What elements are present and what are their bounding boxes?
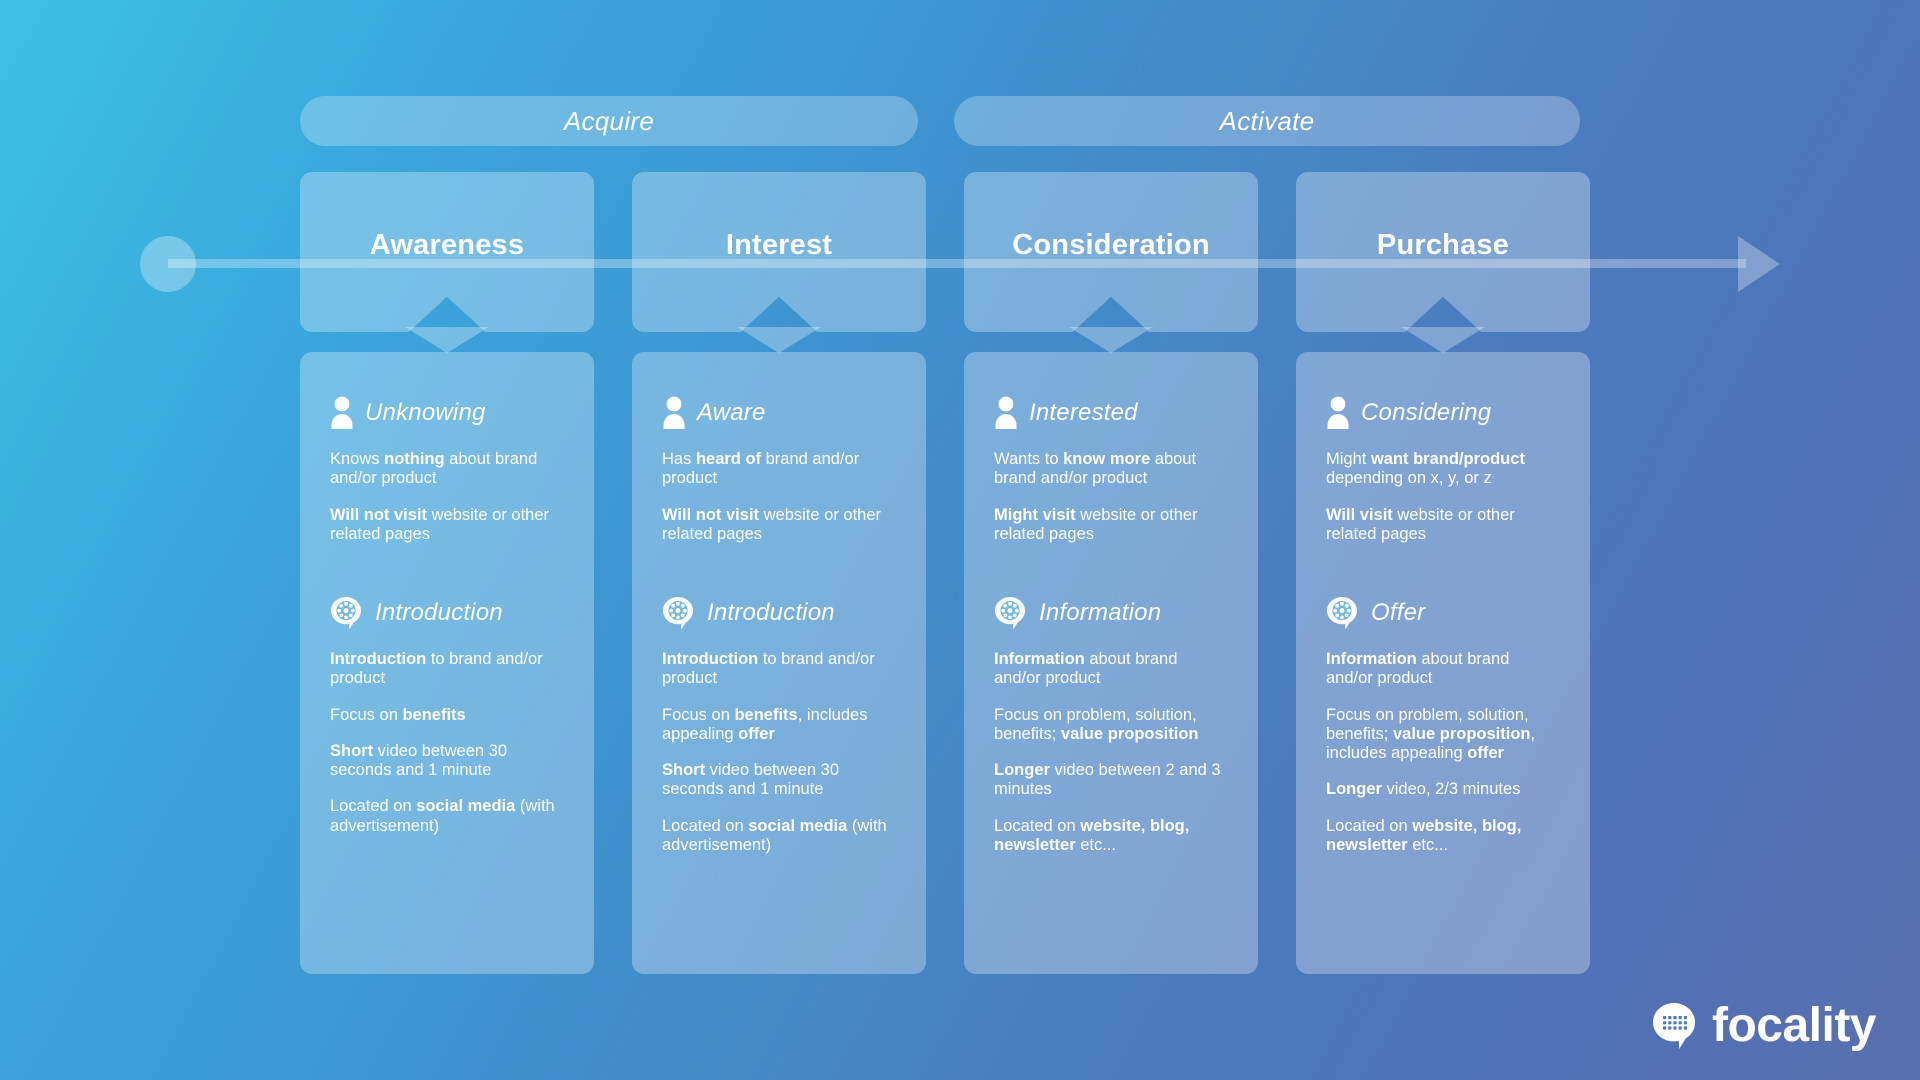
video-bubble-icon	[1326, 596, 1360, 630]
stage-title: Purchase	[1377, 229, 1509, 262]
bullet-item: Will not visit website or other related …	[330, 506, 564, 545]
bullet-item: Focus on benefits	[330, 706, 564, 725]
bullet-text: Wants to	[994, 450, 1063, 468]
bullet-text: etc...	[1076, 836, 1116, 854]
funnel-column-awareness: AwarenessUnknowingKnows nothing about br…	[300, 172, 594, 992]
stage-title: Interest	[726, 229, 832, 262]
person-icon	[994, 396, 1018, 430]
detail-card-interest: AwareHas heard of brand and/or productWi…	[632, 352, 926, 974]
card-notch-icon	[1069, 327, 1153, 353]
persona-header: Unknowing	[330, 396, 564, 430]
video-bubble-icon	[662, 596, 696, 630]
bullet-item: Located on social media (with advertisem…	[330, 797, 564, 836]
bullet-text: Located on	[330, 797, 416, 815]
phase-banner-activate: Activate	[954, 96, 1580, 146]
bullet-emphasis: know more	[1063, 450, 1150, 468]
bullet-emphasis: Will visit	[1326, 506, 1393, 524]
stage-title: Consideration	[1012, 229, 1210, 262]
media-header: Offer	[1326, 596, 1560, 630]
bullet-item: Located on social media (with advertisem…	[662, 817, 896, 856]
bullet-emphasis: Will not visit	[330, 506, 427, 524]
phase-banner-acquire: Acquire	[300, 96, 918, 146]
bullet-emphasis: Introduction	[330, 650, 426, 668]
video-bubble-icon	[994, 596, 1028, 630]
bullet-text: depending on x, y, or z	[1326, 469, 1492, 487]
bullet-text: Located on	[994, 817, 1080, 835]
bullet-item: Longer video between 2 and 3 minutes	[994, 761, 1228, 800]
bullet-item: Short video between 30 seconds and 1 min…	[662, 761, 896, 800]
bullet-item: Located on website, blog, newsletter etc…	[994, 817, 1228, 856]
bullet-emphasis: benefits	[402, 706, 465, 724]
media-title: Introduction	[707, 599, 835, 627]
bullet-item: Information about brand and/or product	[994, 650, 1228, 689]
stage-card-purchase[interactable]: Purchase	[1296, 172, 1590, 332]
person-icon	[1326, 396, 1350, 430]
focality-bubble-icon	[1650, 1000, 1702, 1052]
persona-section: ConsideringMight want brand/product depe…	[1326, 396, 1560, 592]
bullet-item: Will visit website or other related page…	[1326, 506, 1560, 545]
bullet-emphasis: Short	[330, 742, 373, 760]
bullet-item: Focus on problem, solution, benefits; va…	[1326, 706, 1560, 764]
bullet-emphasis: nothing	[384, 450, 444, 468]
bullet-emphasis: Longer	[994, 761, 1050, 779]
bullet-item: Introduction to brand and/or product	[330, 650, 564, 689]
detail-card-consideration: InterestedWants to know more about brand…	[964, 352, 1258, 974]
logo-wordmark: focality	[1712, 1002, 1876, 1050]
persona-title: Interested	[1029, 399, 1138, 427]
bullet-emphasis: offer	[1467, 744, 1504, 762]
card-notch-icon	[737, 327, 821, 353]
bullet-emphasis: offer	[738, 725, 775, 743]
media-section: IntroductionIntroduction to brand and/or…	[662, 596, 896, 855]
brand-logo: focality	[1650, 1000, 1876, 1052]
funnel-columns: AwarenessUnknowingKnows nothing about br…	[300, 172, 1590, 992]
stage-title: Awareness	[370, 229, 524, 262]
bullet-text: video, 2/3 minutes	[1382, 780, 1521, 798]
bullet-emphasis: social media	[748, 817, 847, 835]
bullet-emphasis: Short	[662, 761, 705, 779]
stage-card-awareness[interactable]: Awareness	[300, 172, 594, 332]
bullet-item: Knows nothing about brand and/or product	[330, 450, 564, 489]
persona-title: Unknowing	[365, 399, 486, 427]
person-icon	[330, 396, 354, 430]
persona-section: AwareHas heard of brand and/or productWi…	[662, 396, 896, 592]
bullet-emphasis: Longer	[1326, 780, 1382, 798]
bullet-emphasis: Introduction	[662, 650, 758, 668]
bullet-item: Short video between 30 seconds and 1 min…	[330, 742, 564, 781]
persona-section: UnknowingKnows nothing about brand and/o…	[330, 396, 564, 592]
media-section: IntroductionIntroduction to brand and/or…	[330, 596, 564, 836]
bullet-item: Longer video, 2/3 minutes	[1326, 780, 1560, 799]
bullet-item: Located on website, blog, newsletter etc…	[1326, 817, 1560, 856]
media-title: Offer	[1371, 599, 1425, 627]
detail-card-awareness: UnknowingKnows nothing about brand and/o…	[300, 352, 594, 974]
persona-title: Aware	[697, 399, 766, 427]
bullet-item: Might want brand/product depending on x,…	[1326, 450, 1560, 489]
media-title: Information	[1039, 599, 1161, 627]
bullet-item: Introduction to brand and/or product	[662, 650, 896, 689]
persona-section: InterestedWants to know more about brand…	[994, 396, 1228, 592]
media-header: Information	[994, 596, 1228, 630]
bullet-text: Focus on	[662, 706, 734, 724]
bullet-text: Has	[662, 450, 696, 468]
bullet-item: Will not visit website or other related …	[662, 506, 896, 545]
bullet-emphasis: value proposition	[1393, 725, 1531, 743]
bullet-item: Information about brand and/or product	[1326, 650, 1560, 689]
funnel-column-interest: InterestAwareHas heard of brand and/or p…	[632, 172, 926, 992]
bullet-text: Knows	[330, 450, 384, 468]
bullet-emphasis: Information	[994, 650, 1085, 668]
phase-banner-row: AcquireActivate	[300, 96, 1580, 146]
bullet-item: Has heard of brand and/or product	[662, 450, 896, 489]
bullet-item: Might visit website or other related pag…	[994, 506, 1228, 545]
bullet-text: etc...	[1408, 836, 1448, 854]
video-bubble-icon	[330, 596, 364, 630]
persona-header: Aware	[662, 396, 896, 430]
bullet-emphasis: benefits	[734, 706, 797, 724]
funnel-column-purchase: PurchaseConsideringMight want brand/prod…	[1296, 172, 1590, 992]
bullet-emphasis: want brand/product	[1371, 450, 1525, 468]
stage-card-consideration[interactable]: Consideration	[964, 172, 1258, 332]
bullet-emphasis: Will not visit	[662, 506, 759, 524]
phase-label: Acquire	[564, 106, 654, 137]
funnel-column-consideration: ConsiderationInterestedWants to know mor…	[964, 172, 1258, 992]
persona-title: Considering	[1361, 399, 1491, 427]
bullet-text: Located on	[662, 817, 748, 835]
stage-card-interest[interactable]: Interest	[632, 172, 926, 332]
detail-card-purchase: ConsideringMight want brand/product depe…	[1296, 352, 1590, 974]
media-section: InformationInformation about brand and/o…	[994, 596, 1228, 855]
bullet-emphasis: value proposition	[1061, 725, 1199, 743]
person-icon	[662, 396, 686, 430]
bullet-emphasis: Might visit	[994, 506, 1076, 524]
persona-header: Interested	[994, 396, 1228, 430]
bullet-text: Might	[1326, 450, 1371, 468]
timeline-arrow-icon	[1738, 236, 1780, 292]
bullet-text: Located on	[1326, 817, 1412, 835]
media-section: OfferInformation about brand and/or prod…	[1326, 596, 1560, 855]
persona-header: Considering	[1326, 396, 1560, 430]
card-notch-icon	[405, 327, 489, 353]
bullet-emphasis: social media	[416, 797, 515, 815]
bullet-emphasis: Information	[1326, 650, 1417, 668]
bullet-emphasis: heard of	[696, 450, 761, 468]
bullet-item: Focus on benefits, includes appealing of…	[662, 706, 896, 745]
media-title: Introduction	[375, 599, 503, 627]
card-notch-icon	[1401, 327, 1485, 353]
bullet-item: Wants to know more about brand and/or pr…	[994, 450, 1228, 489]
media-header: Introduction	[330, 596, 564, 630]
media-header: Introduction	[662, 596, 896, 630]
phase-label: Activate	[1220, 106, 1315, 137]
bullet-text: Focus on	[330, 706, 402, 724]
bullet-item: Focus on problem, solution, benefits; va…	[994, 706, 1228, 745]
